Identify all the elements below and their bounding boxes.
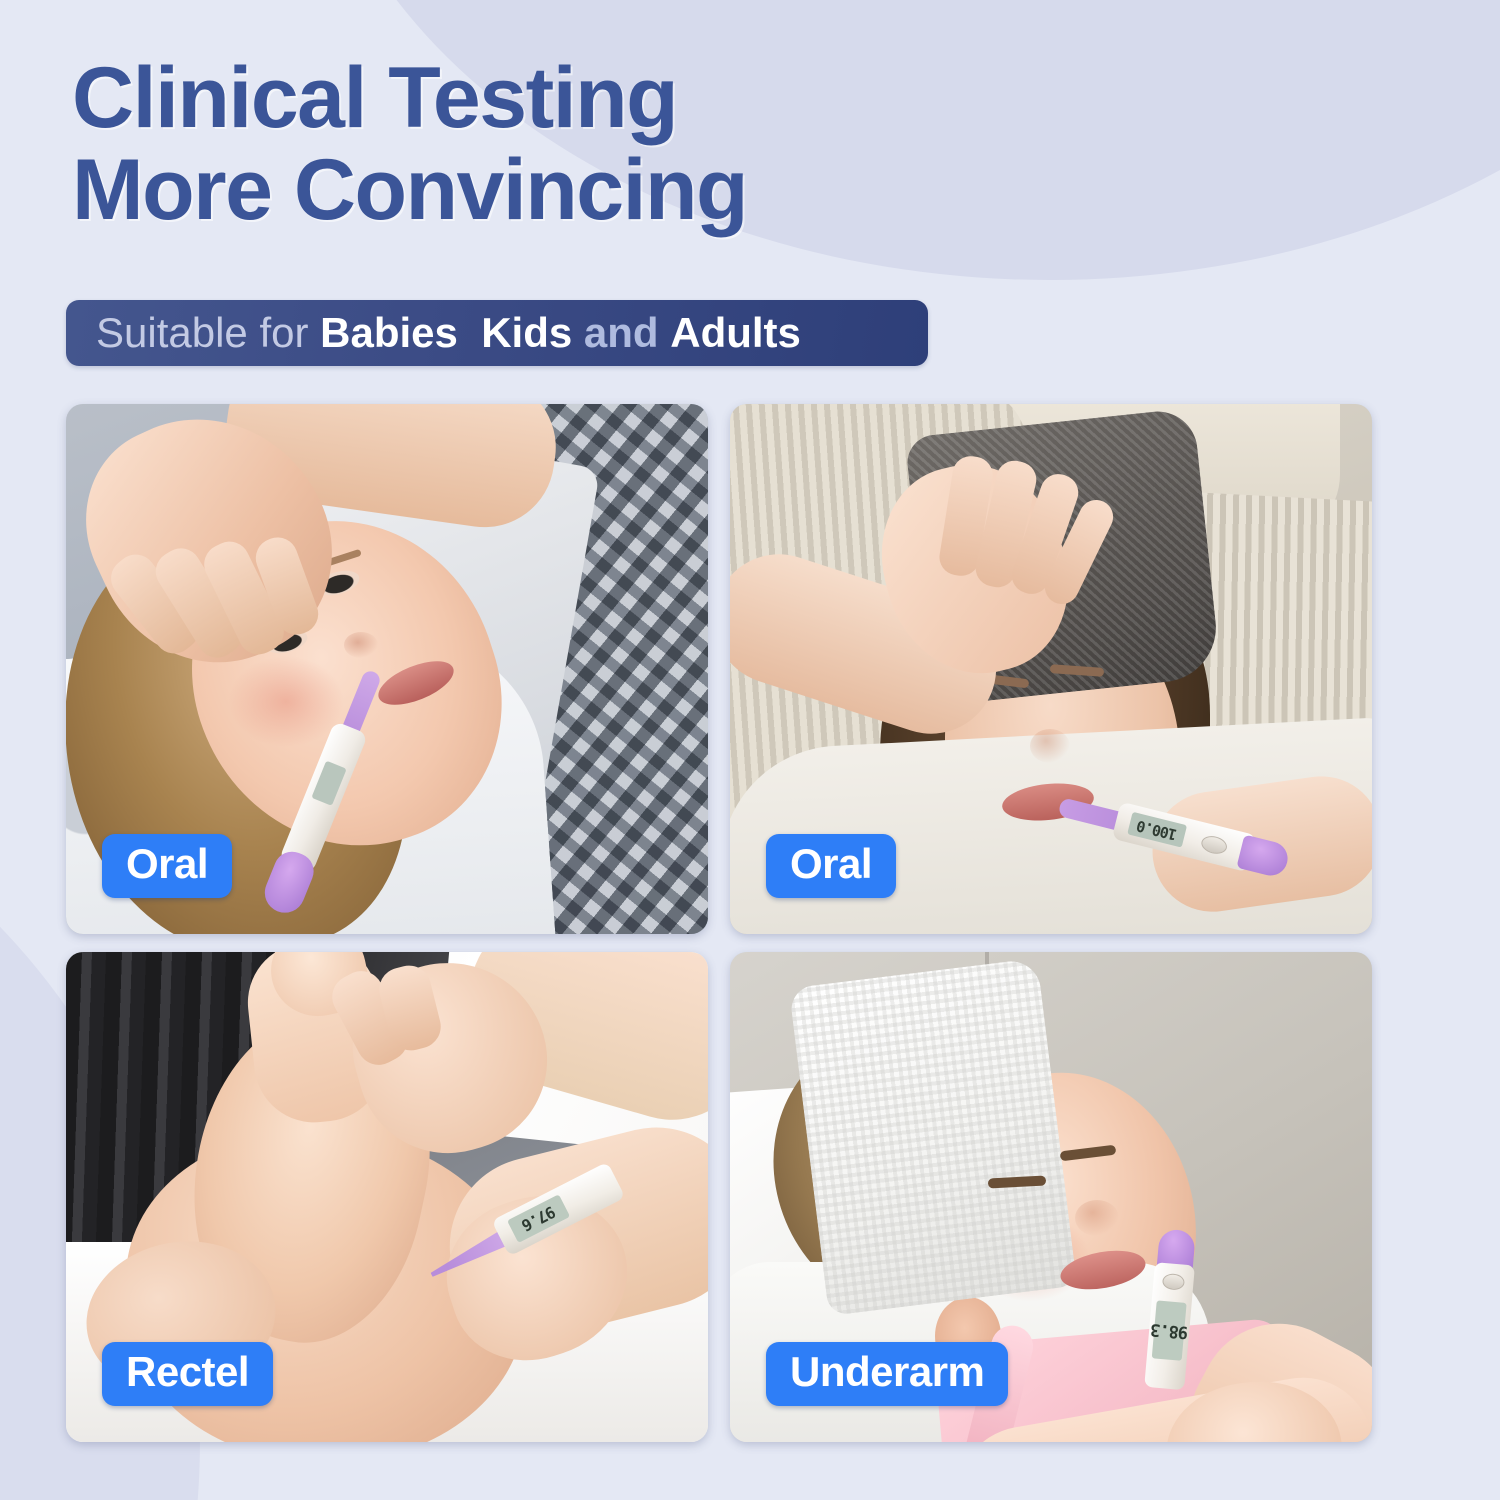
subtitle-audience-2: Kids [481, 312, 572, 354]
usage-scenario-grid: Oral [66, 404, 1372, 1442]
subtitle-audience-1: Babies [320, 312, 458, 354]
subtitle-audience-3: Adults [670, 312, 801, 354]
suitable-for-banner: Suitable for Babies Kids and Adults [66, 300, 928, 366]
white-towel-compress [789, 958, 1077, 1316]
badge-oral-child: Oral [102, 834, 232, 898]
headline-line-2: More Convincing [72, 144, 972, 236]
thermometer-reading: 98.3 [1150, 1319, 1189, 1342]
scenario-card-oral-child: Oral [66, 404, 708, 934]
badge-oral-adult: Oral [766, 834, 896, 898]
woman-nose [1030, 729, 1070, 763]
product-feature-banner: Clinical Testing More Convincing Suitabl… [0, 0, 1500, 1500]
badge-underarm: Underarm [766, 1342, 1008, 1406]
scenario-card-oral-adult: 100.0 Oral [730, 404, 1372, 934]
thermometer-screen: 98.3 [1152, 1300, 1187, 1360]
child-nose [1075, 1200, 1119, 1236]
headline-line-1: Clinical Testing [72, 52, 972, 144]
child-nose [344, 632, 378, 658]
subtitle-separator [458, 312, 481, 354]
subtitle-prefix: Suitable for [96, 312, 320, 354]
badge-rectal: Rectel [102, 1342, 273, 1406]
scenario-card-rectal-baby: 97.6 Rectel [66, 952, 708, 1442]
subtitle-conjunction: and [572, 312, 670, 354]
scenario-card-underarm: 98.3 Underarm [730, 952, 1372, 1442]
page-title: Clinical Testing More Convincing [72, 52, 972, 236]
